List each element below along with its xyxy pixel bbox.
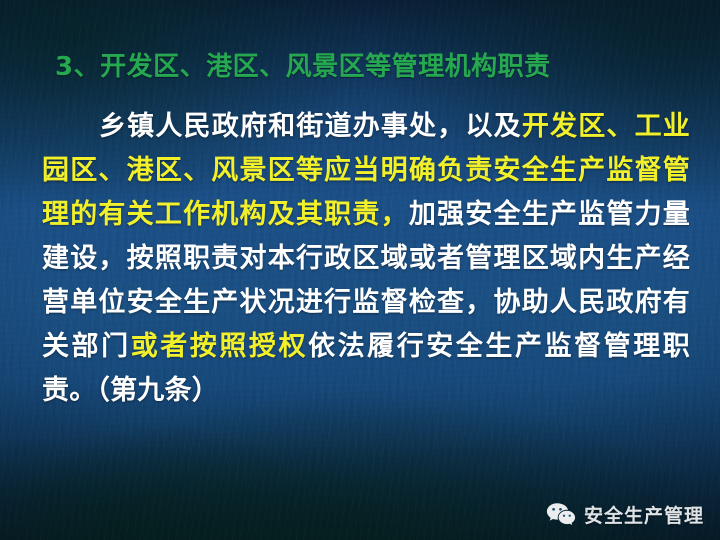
slide-title: 3、开发区、港区、风景区等管理机构职责 bbox=[55, 50, 551, 84]
watermark: 安全生产管理 bbox=[546, 501, 704, 528]
slide-body-paragraph: 乡镇人民政府和街道办事处，以及开发区、工业园区、港区、风景区等应当明确负责安全生… bbox=[42, 105, 690, 413]
slide-canvas: 3、开发区、港区、风景区等管理机构职责 乡镇人民政府和街道办事处，以及开发区、工… bbox=[0, 0, 720, 540]
paragraph-segment-1: 乡镇人民政府和街道办事处，以及 bbox=[98, 111, 522, 142]
paragraph-segment-4-highlighted: 或者按照授权 bbox=[131, 331, 308, 362]
wechat-icon bbox=[546, 502, 576, 528]
slide-content: 3、开发区、港区、风景区等管理机构职责 乡镇人民政府和街道办事处，以及开发区、工… bbox=[0, 0, 720, 540]
watermark-label: 安全生产管理 bbox=[584, 501, 704, 528]
